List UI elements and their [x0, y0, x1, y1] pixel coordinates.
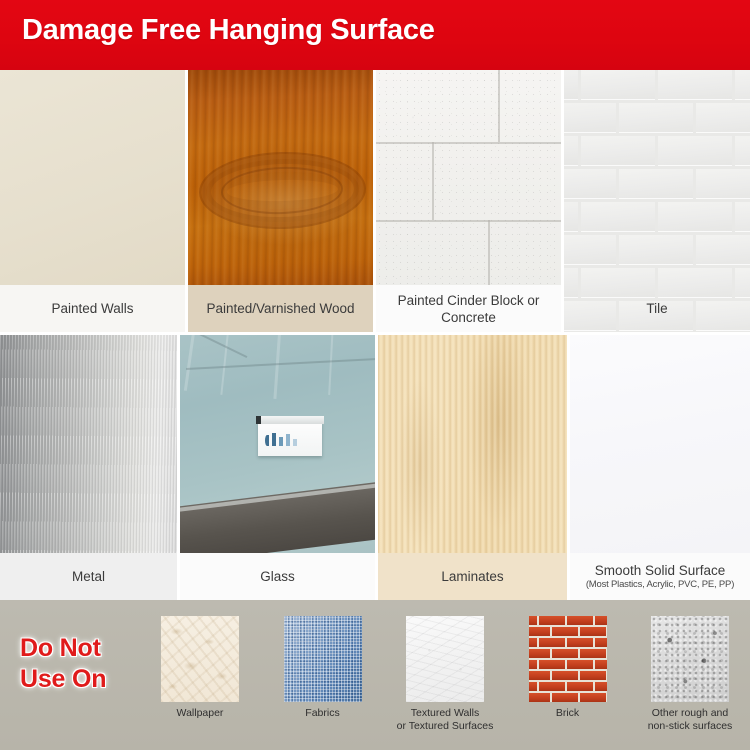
- surface-label: Glass: [260, 568, 295, 585]
- textured-wall-swatch: [406, 616, 484, 702]
- page-title: Damage Free Hanging Surface: [22, 14, 435, 47]
- surface-label: Tile: [646, 300, 667, 317]
- glass-reflection: [328, 335, 334, 395]
- do-not-use-label-line1: Other rough and: [652, 707, 728, 719]
- surface-label: Painted Cinder Block or Concrete: [380, 292, 557, 326]
- brick-swatch: [529, 616, 607, 702]
- surface-label: Laminates: [441, 568, 503, 585]
- glass-mounted-sign: [258, 422, 322, 456]
- subway-tile-row: [564, 202, 750, 232]
- brick-row: [529, 616, 607, 625]
- surface-tile-cinder-block: Painted Cinder Block or Concrete: [376, 70, 564, 335]
- cinder-mortar-line: [432, 142, 434, 220]
- approved-surfaces-row-1: Painted Walls Painted/Varnished Wood: [0, 70, 750, 335]
- subway-tile-row: [564, 103, 750, 133]
- surface-label: Smooth Solid Surface: [595, 562, 726, 579]
- surface-tile-smooth-solid: Smooth Solid Surface (Most Plastics, Acr…: [570, 335, 750, 600]
- do-not-use-label: Textured Walls or Textured Surfaces: [397, 707, 494, 733]
- surface-label: Painted Walls: [51, 300, 133, 317]
- varnished-wood-swatch: [188, 70, 373, 285]
- surface-label: Painted/Varnished Wood: [206, 300, 354, 317]
- brick-row: [529, 660, 607, 669]
- approved-surfaces-row-2: Metal: [0, 335, 750, 600]
- do-not-use-heading-line2: Use On: [20, 664, 138, 695]
- do-not-use-label-line2: or Textured Surfaces: [397, 720, 494, 732]
- cinder-mortar-line: [376, 220, 561, 222]
- cinder-mortar-line: [498, 70, 500, 142]
- do-not-use-item: Fabrics: [268, 616, 378, 733]
- cinder-mortar-line: [376, 142, 561, 144]
- do-not-use-label: Other rough and non-stick surfaces: [648, 707, 733, 733]
- cinder-speckle-texture: [376, 70, 561, 285]
- do-not-use-heading: Do Not Use On: [20, 633, 138, 695]
- brick-row: [529, 649, 607, 658]
- fabric-swatch: [284, 616, 362, 702]
- surface-tile-painted-walls: Painted Walls: [0, 70, 188, 335]
- rough-surface-swatch: [651, 616, 729, 702]
- header-banner: Damage Free Hanging Surface: [0, 0, 750, 70]
- glass-reflection-line: [186, 358, 375, 370]
- surface-tile-caption: Tile: [564, 285, 750, 332]
- subway-tile-row: [564, 136, 750, 166]
- surface-tile-laminates: Laminates: [378, 335, 570, 600]
- approved-surfaces-grid: Painted Walls Painted/Varnished Wood: [0, 70, 750, 600]
- glass-reflection: [184, 335, 195, 391]
- surface-tile-caption: Painted/Varnished Wood: [188, 285, 373, 332]
- subway-tile-row: [564, 235, 750, 265]
- subway-tile-row: [564, 169, 750, 199]
- surface-tile-caption: Painted Cinder Block or Concrete: [376, 285, 561, 332]
- do-not-use-label: Brick: [556, 707, 579, 720]
- surface-tile-caption: Laminates: [378, 553, 567, 600]
- painted-wall-swatch: [0, 70, 185, 285]
- do-not-use-label: Fabrics: [305, 707, 339, 720]
- wallpaper-swatch: [161, 616, 239, 702]
- sign-graphic-marks: [265, 433, 297, 446]
- do-not-use-items: Wallpaper Fabrics Textured Walls or Text…: [145, 616, 745, 733]
- smooth-solid-swatch: [570, 335, 750, 553]
- surface-sublabel: (Most Plastics, Acrylic, PVC, PE, PP): [586, 579, 734, 591]
- surface-tile-metal: Metal: [0, 335, 180, 600]
- brick-row: [529, 638, 607, 647]
- surface-tile-varnished-wood: Painted/Varnished Wood: [188, 70, 376, 335]
- do-not-use-section: Do Not Use On Wallpaper Fabrics Textured…: [0, 600, 750, 750]
- surface-tile-tile: Tile: [564, 70, 750, 335]
- do-not-use-item: Textured Walls or Textured Surfaces: [390, 616, 500, 733]
- do-not-use-item: Other rough and non-stick surfaces: [635, 616, 745, 733]
- surface-tile-caption: Painted Walls: [0, 285, 185, 332]
- brushed-metal-swatch: [0, 335, 177, 553]
- brick-row: [529, 693, 607, 702]
- do-not-use-label-line1: Textured Walls: [411, 707, 479, 719]
- laminate-swatch: [378, 335, 567, 553]
- do-not-use-heading-line1: Do Not: [20, 634, 101, 662]
- cinder-block-swatch: [376, 70, 561, 285]
- sign-rail: [256, 416, 324, 424]
- glass-reflection: [273, 335, 281, 399]
- surface-tile-glass: Glass: [180, 335, 378, 600]
- surface-label: Metal: [72, 568, 105, 585]
- damage-free-hanging-surface-infographic: Damage Free Hanging Surface Painted Wall…: [0, 0, 750, 750]
- brick-row: [529, 627, 607, 636]
- surface-tile-caption: Smooth Solid Surface (Most Plastics, Acr…: [570, 553, 750, 600]
- subway-tile-row: [564, 70, 750, 100]
- glass-reflection-line: [193, 335, 248, 358]
- glass-panel-swatch: [180, 335, 375, 553]
- brick-row: [529, 671, 607, 680]
- do-not-use-item: Wallpaper: [145, 616, 255, 733]
- do-not-use-label: Wallpaper: [177, 707, 224, 720]
- cinder-mortar-line: [488, 220, 490, 285]
- brick-row: [529, 682, 607, 691]
- do-not-use-label-line2: non-stick surfaces: [648, 720, 733, 732]
- surface-tile-caption: Metal: [0, 553, 177, 600]
- do-not-use-item: Brick: [513, 616, 623, 733]
- surface-tile-caption: Glass: [180, 553, 375, 600]
